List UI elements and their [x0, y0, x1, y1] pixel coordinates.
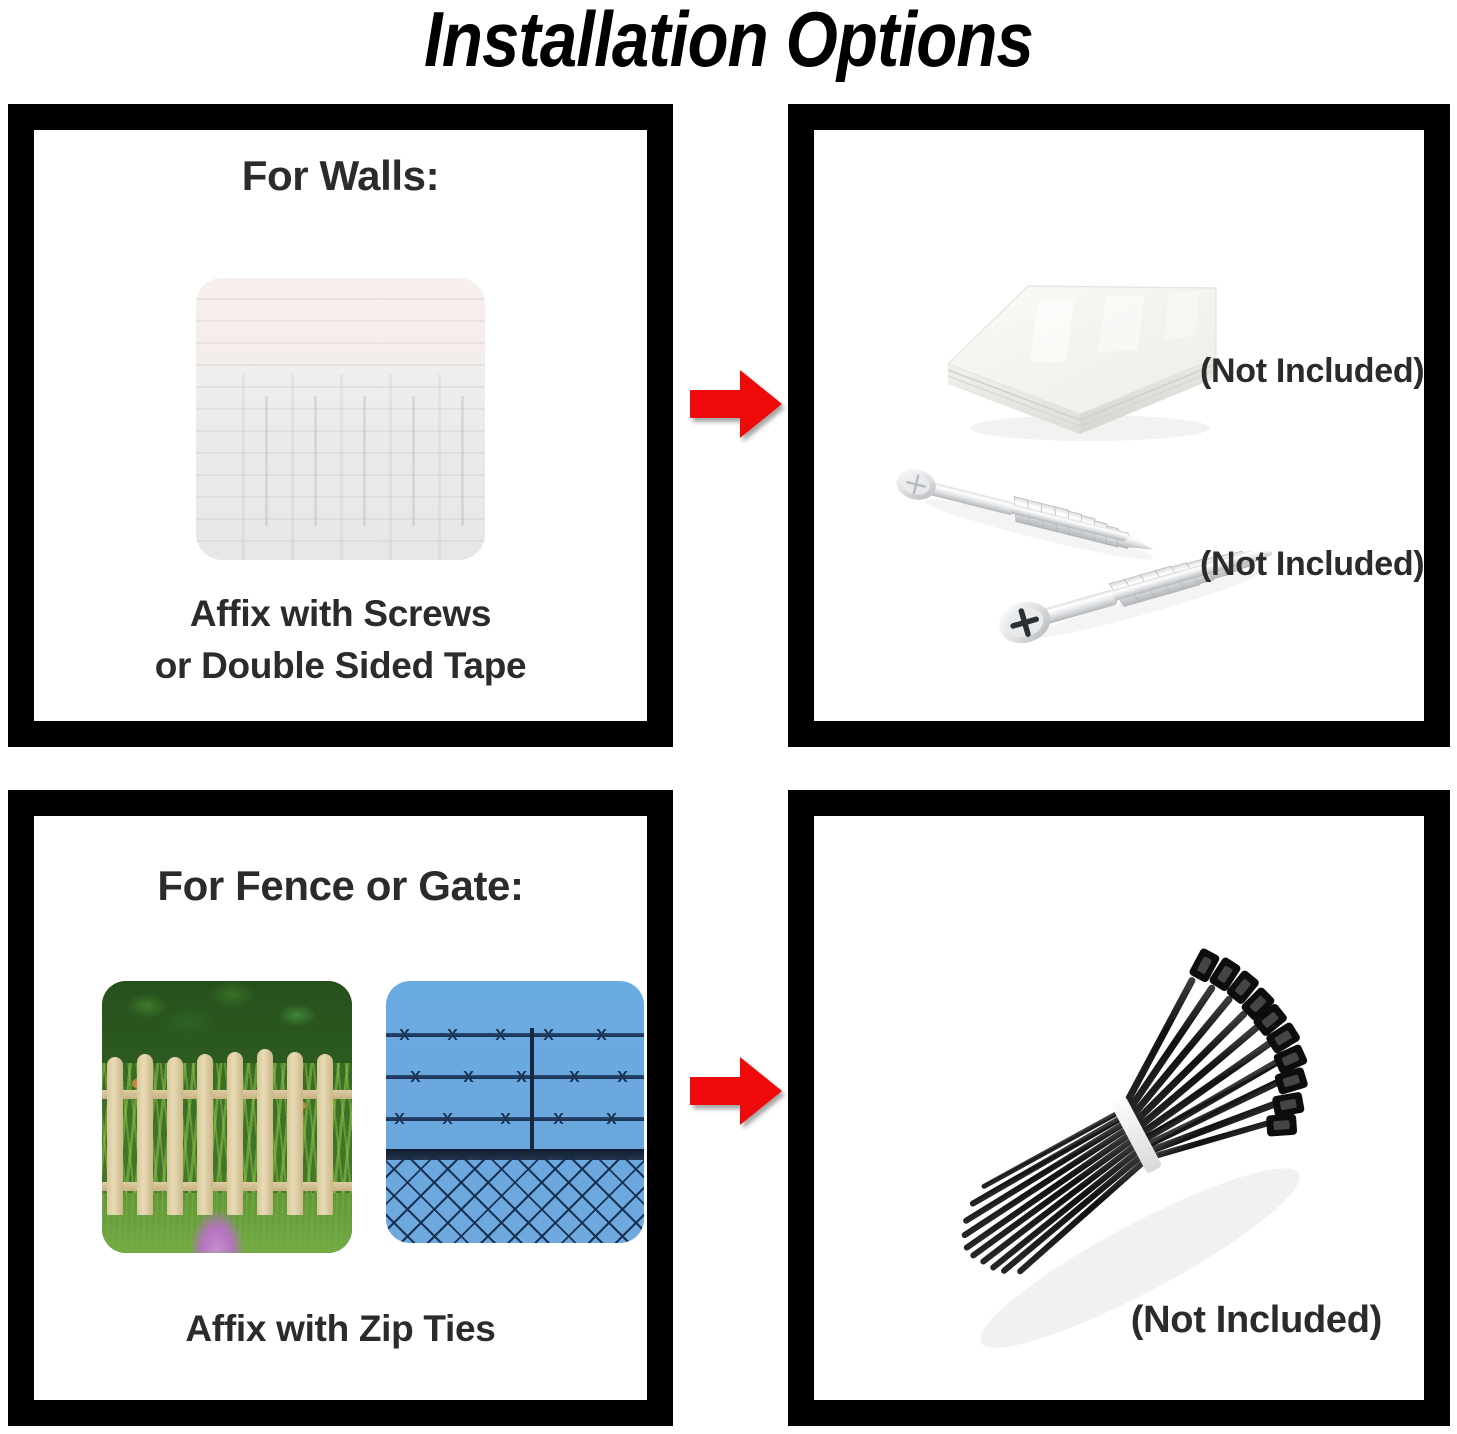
panel-zip-ties: (Not Included) — [788, 790, 1450, 1426]
double-sided-tape-stack-image — [930, 266, 1230, 446]
wooden-picket-fence-photo — [102, 981, 352, 1253]
black-zip-tie-bundle-image — [890, 928, 1390, 1358]
screws-not-included-label: (Not Included) — [1200, 545, 1424, 584]
panel-for-fence-or-gate: For Fence or Gate: — [8, 790, 673, 1426]
caption-line-2: or Double Sided Tape — [34, 640, 647, 693]
page-title: Installation Options — [102, 0, 1355, 83]
panel-zip-ties-content: (Not Included) — [814, 816, 1424, 1400]
for-walls-caption: Affix with Screws or Double Sided Tape — [34, 588, 647, 693]
panel-for-walls-content: For Walls: Affix with Screws or Double S… — [34, 130, 647, 721]
caption-line-1: Affix with Screws — [34, 588, 647, 641]
red-arrow-right-icon — [690, 366, 782, 442]
white-brick-wall-swatch-image — [196, 278, 485, 560]
for-walls-heading: For Walls: — [34, 152, 647, 200]
panel-wall-hardware: (Not Included) — [788, 104, 1450, 747]
tape-not-included-label: (Not Included) — [1200, 352, 1424, 391]
zip-ties-not-included-label: (Not Included) — [1131, 1299, 1382, 1342]
for-fence-heading: For Fence or Gate: — [34, 862, 647, 910]
panel-for-walls: For Walls: Affix with Screws or Double S… — [8, 104, 673, 747]
brick-joints-offset-texture — [219, 396, 485, 526]
panel-for-fence-content: For Fence or Gate: — [34, 816, 647, 1400]
red-arrow-right-icon — [690, 1053, 782, 1129]
chain-link-barbed-wire-fence-photo — [386, 981, 644, 1243]
for-fence-caption: Affix with Zip Ties — [34, 1303, 647, 1356]
panel-wall-hardware-content: (Not Included) — [814, 130, 1424, 721]
